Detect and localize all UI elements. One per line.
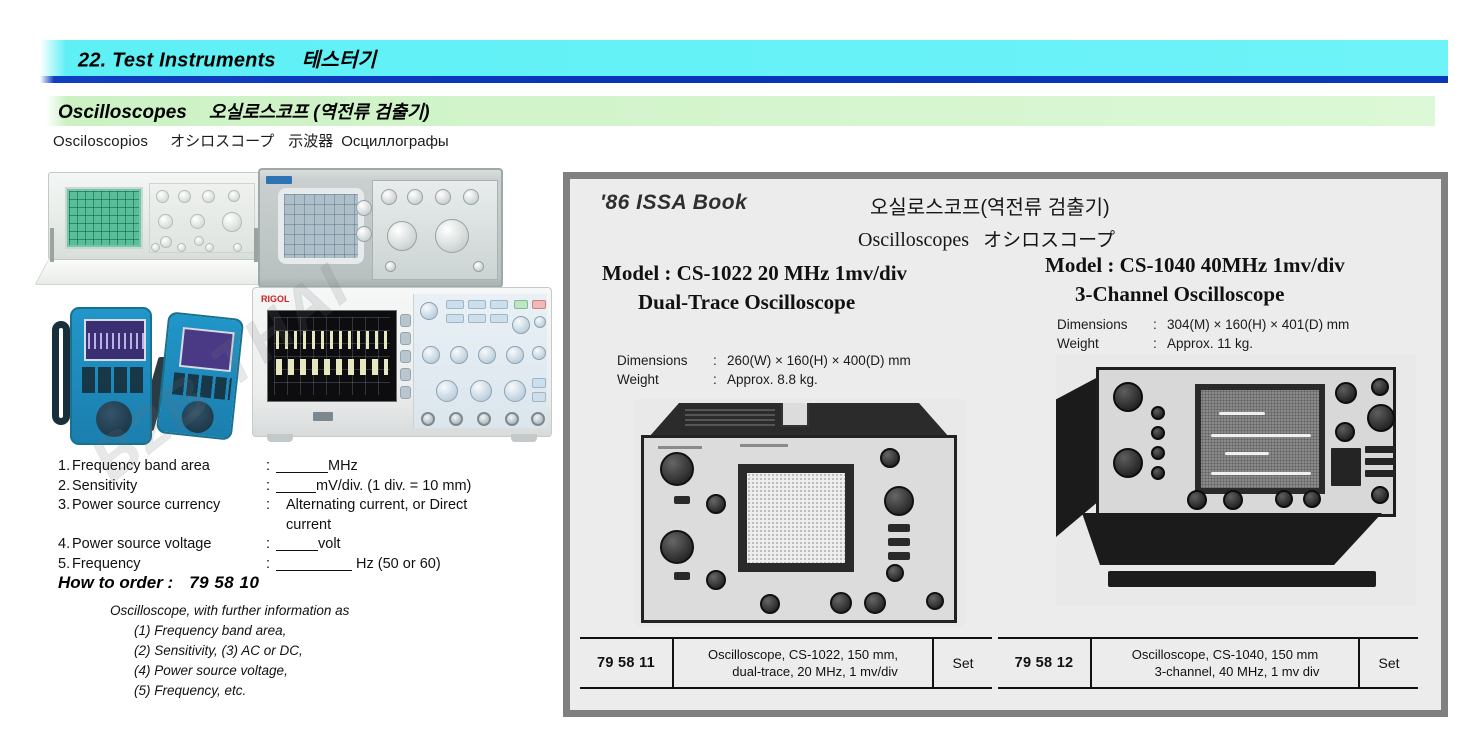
scope-case [258, 168, 503, 288]
focus-knob [356, 226, 372, 242]
power-switch [1371, 486, 1389, 504]
crt-display [278, 188, 364, 264]
product-dimensions-cs1022: Dimensions:260(W) × 160(H) × 400(D) mm W… [617, 351, 911, 389]
control-knob [1335, 422, 1355, 442]
toggle-switch [1365, 446, 1395, 453]
order-unit: Set [934, 639, 992, 687]
scope-foot [511, 434, 537, 442]
usb-port [313, 412, 333, 421]
lcd-display [179, 327, 235, 372]
control-knob [190, 214, 205, 229]
brand-badge [266, 176, 292, 184]
soft-key [400, 314, 411, 327]
crt-graticule [284, 194, 358, 258]
toggle-switch [1365, 458, 1395, 465]
order-desc-line-1: Oscilloscope, CS-1022, 150 mm, [708, 647, 898, 662]
control-knob [435, 189, 451, 205]
spec-label: Frequency band area [72, 457, 210, 477]
spec-colon: : [266, 477, 270, 497]
model-line-2: Dual-Trace Oscilloscope [638, 290, 907, 315]
weight-value: Approx. 8.8 kg. [727, 372, 818, 387]
dimensions-value: 304(M) × 160(H) × 401(D) mm [1167, 317, 1349, 332]
spec-value-continued: current [286, 516, 331, 536]
spec-label: Sensitivity [72, 477, 137, 497]
bnc-connector [205, 243, 214, 252]
soft-key [400, 368, 411, 381]
spec-value: mV/div. (1 div. = 10 mm) [276, 477, 471, 497]
spec-row: 4.Power source voltage : volt [58, 535, 538, 555]
bnc-connector [385, 261, 396, 272]
volts-div-knob [435, 219, 469, 253]
scope-base-shadow [1082, 513, 1382, 565]
spec-label: Power source currency [72, 496, 220, 516]
bnc-input-ch2 [449, 412, 463, 426]
dimensions-row: Dimensions:304(M) × 160(H) × 401(D) mm [1057, 315, 1349, 334]
scope-front-panel [641, 435, 957, 623]
spec-unit: MHz [328, 458, 358, 474]
handheld-scope-front-view [70, 307, 152, 445]
spec-row-continuation: current [58, 516, 538, 536]
lcd-display [84, 319, 146, 361]
how-to-order-description: Oscilloscope, with further information a… [110, 601, 540, 701]
spec-number: 1. [58, 457, 72, 477]
spec-colon: : [266, 555, 270, 575]
control-knob [194, 236, 204, 246]
control-knob [660, 530, 694, 564]
control-knob [1151, 446, 1165, 460]
toggle-switch [888, 538, 910, 546]
spec-colon: : [266, 457, 270, 477]
control-knob [886, 564, 904, 582]
waveform-trace [88, 333, 144, 349]
scope-leg [50, 228, 54, 262]
control-knob [1151, 406, 1165, 420]
spec-number: 3. [58, 496, 72, 516]
how-to-order-heading: How to order :79 58 10 [58, 573, 259, 593]
carry-handle [781, 401, 809, 427]
catalog-page-inner: '86 ISSA Book 오실로스코프(역전류 검출기) Oscillosco… [570, 179, 1441, 710]
switch-bank [1331, 448, 1361, 486]
section-title-ko: 오실로스코프 (역전류 검출기) [209, 102, 430, 122]
vertical-position-knob [436, 380, 458, 402]
menu-button [490, 314, 508, 323]
spec-unit: Hz (50 or 60) [356, 556, 441, 572]
weight-key: Weight [617, 370, 713, 389]
control-panel [372, 180, 498, 280]
bnc-connector [473, 261, 484, 272]
menu-button [468, 314, 486, 323]
spec-unit: mV/div. (1 div. = 10 mm) [316, 478, 471, 494]
dimensions-value: 260(W) × 160(H) × 400(D) mm [727, 353, 911, 368]
catalog-photo-cs1040 [1056, 355, 1416, 605]
bnc-input-ch4 [505, 412, 519, 426]
spec-number: 4. [58, 535, 72, 555]
control-knob [884, 486, 914, 516]
waveform-square [276, 359, 388, 375]
power-switch [926, 592, 944, 610]
weight-colon: : [713, 370, 727, 389]
section-header-bar: Oscilloscopes오실로스코프 (역전류 검출기) [46, 96, 1435, 126]
toggle-switch [888, 552, 910, 560]
bnc-connector [177, 243, 186, 252]
dimensions-key: Dimensions [617, 351, 713, 370]
menu-button [468, 300, 486, 309]
spec-label: Frequency [72, 555, 141, 575]
vertical-scale-knob [422, 346, 440, 364]
soft-key [400, 386, 411, 399]
bnc-connector [760, 594, 780, 614]
horizontal-scale-knob [506, 346, 524, 364]
product-photo-digital-storage-scope: RIGOL [252, 287, 552, 437]
intensity-knob [356, 200, 372, 216]
control-knob [1151, 466, 1165, 480]
model-line-2: 3-Channel Oscilloscope [1075, 282, 1345, 307]
scope-front-panel [1096, 367, 1396, 517]
brand-logo: RIGOL [261, 294, 411, 306]
bnc-connector [864, 592, 886, 614]
chapter-underline-rule [40, 76, 1448, 83]
control-knob [202, 190, 215, 203]
catalog-title-english: Oscilloscopesオシロスコープ [858, 225, 1115, 252]
catalog-page-panel: '86 ISSA Book 오실로스코프(역전류 검출기) Oscillosco… [563, 172, 1448, 717]
subtitle-russian: Осциллографы [341, 133, 448, 150]
how-to-order-label: How to order : [58, 573, 173, 592]
bnc-connector [1187, 490, 1207, 510]
hand-strap [52, 321, 70, 425]
section-subtitle-translations: Osciloscopiosオシロスコープ示波器Осциллографы [53, 130, 753, 151]
run-stop-button [514, 300, 528, 309]
model-line-1: Model : CS-1040 40MHz 1mv/div [1045, 253, 1345, 278]
control-panel [413, 294, 547, 428]
crt-display [65, 187, 143, 249]
scope-chassis [48, 172, 261, 260]
product-dimensions-cs1040: Dimensions:304(M) × 160(H) × 401(D) mm W… [1057, 315, 1349, 353]
dimensions-colon: : [713, 351, 727, 370]
toggle-switch [674, 496, 690, 504]
order-desc-line: Oscilloscope, with further information a… [110, 601, 540, 621]
left-product-column: RIGOL [40, 165, 550, 725]
chapter-header-bar: 22. Test Instruments테스터기 [40, 40, 1448, 76]
fill-in-blank [276, 480, 316, 493]
bnc-connector [233, 243, 242, 252]
control-knob [532, 346, 546, 360]
order-desc-line-2: 3-channel, 40 MHz, 1 mv div [1131, 663, 1320, 680]
section-title-en: Oscilloscopes [58, 102, 187, 123]
spec-colon: : [266, 496, 270, 516]
scope-case: RIGOL [252, 287, 552, 437]
catalog-photo-cs1022 [635, 399, 965, 627]
product-photo-handheld-scopes [40, 295, 255, 455]
control-knob [160, 236, 172, 248]
catalog-title-en-text: Oscilloscopes [858, 229, 969, 251]
control-knob [381, 189, 397, 205]
order-desc-line-2: dual-trace, 20 MHz, 1 mv/div [708, 663, 898, 680]
crt-graticule [69, 191, 139, 245]
specification-list: 1.Frequency band area : MHz 2.Sensitivit… [58, 457, 538, 574]
catalog-title-korean: 오실로스코프(역전류 검출기) [870, 191, 1110, 220]
bnc-connector [1303, 490, 1321, 508]
utility-button [532, 392, 546, 402]
bnc-connector [151, 243, 160, 252]
spec-unit: volt [318, 536, 341, 552]
weight-row: Weight:Approx. 11 kg. [1057, 334, 1349, 353]
ventilation-grille [685, 409, 775, 429]
spec-colon: : [266, 535, 270, 555]
chapter-title-ko: 테스터기 [302, 50, 376, 72]
toggle-switch [888, 524, 910, 532]
control-knob [178, 190, 191, 203]
display-graticule [274, 317, 390, 395]
probe-accessory-bar [1108, 571, 1376, 587]
timebase-knob [1367, 404, 1395, 432]
spec-row: 2.Sensitivity : mV/div. (1 div. = 10 mm) [58, 477, 538, 497]
order-desc-line: (1) Frequency band area, [110, 621, 540, 641]
product-photo-benchtop-analog-scope [48, 170, 263, 295]
control-knob [1335, 382, 1357, 404]
order-desc-line: (5) Frequency, etc. [110, 681, 540, 701]
control-knob [463, 189, 479, 205]
chapter-title-en: 22. Test Instruments [78, 50, 276, 72]
single-button [532, 300, 546, 309]
spec-row: 1.Frequency band area : MHz [58, 457, 538, 477]
order-code: 79 58 11 [580, 639, 672, 687]
how-to-order-code: 79 58 10 [189, 573, 259, 592]
issa-book-label: '86 ISSA Book [600, 191, 747, 215]
bnc-input-ch3 [477, 412, 491, 426]
weight-colon: : [1153, 334, 1167, 353]
control-knob [706, 570, 726, 590]
subtitle-japanese: オシロスコープ [170, 133, 274, 150]
chapter-title: 22. Test Instruments테스터기 [78, 44, 376, 73]
waveform-trace [1211, 434, 1311, 437]
spec-label: Power source voltage [72, 535, 211, 555]
subtitle-chinese: 示波器 [288, 133, 333, 150]
multipurpose-knob [420, 302, 438, 320]
horizontal-position-knob [504, 380, 526, 402]
scope-top-hood [649, 403, 949, 437]
crt-display [1195, 384, 1325, 494]
weight-row: Weight:Approx. 8.8 kg. [617, 370, 911, 389]
scope-stand [35, 259, 275, 285]
control-knob [222, 212, 242, 232]
order-description: Oscilloscope, CS-1040, 150 mm 3-channel,… [1090, 639, 1360, 687]
scope-foot [267, 434, 293, 442]
waveform-sine [276, 331, 388, 349]
order-unit: Set [1360, 639, 1418, 687]
menu-button [446, 300, 464, 309]
spec-value: Hz (50 or 60) [276, 555, 441, 575]
dimensions-row: Dimensions:260(W) × 160(H) × 400(D) mm [617, 351, 911, 370]
rotary-dial [180, 399, 215, 434]
control-knob [660, 452, 694, 486]
control-knob [1371, 378, 1389, 396]
control-knob [1151, 426, 1165, 440]
spec-row: 3.Power source currency : Alternating cu… [58, 496, 538, 516]
bnc-input-ch1 [421, 412, 435, 426]
bnc-input-ext [531, 412, 545, 426]
waveform-trace [1211, 472, 1311, 475]
panel-marking [658, 446, 702, 449]
vertical-position-knob [470, 380, 492, 402]
catalog-title-japanese: オシロスコープ [983, 229, 1115, 251]
product-photo-analog-scope-2 [258, 168, 503, 288]
subtitle-spanish: Osciloscopios [53, 133, 148, 150]
spec-value: Alternating current, or Direct [286, 496, 467, 516]
bnc-connector [1223, 490, 1243, 510]
control-knob [1113, 448, 1143, 478]
position-knob [534, 316, 546, 328]
spec-number: 5. [58, 555, 72, 575]
rotary-dial [96, 401, 132, 437]
order-description: Oscilloscope, CS-1022, 150 mm, dual-trac… [672, 639, 934, 687]
timebase-knob [387, 221, 417, 251]
weight-value: Approx. 11 kg. [1167, 336, 1253, 351]
spec-row: 5.Frequency : Hz (50 or 60) [58, 555, 538, 575]
panel-marking [740, 444, 788, 447]
spec-value: volt [276, 535, 341, 555]
control-knob [156, 190, 169, 203]
product-model-cs1040: Model : CS-1040 40MHz 1mv/div 3-Channel … [1045, 253, 1345, 307]
bnc-connector [830, 592, 852, 614]
keypad [172, 372, 232, 400]
order-code: 79 58 12 [998, 639, 1090, 687]
model-line-1: Model : CS-1022 20 MHz 1mv/div [602, 261, 907, 286]
order-desc-line: (4) Power source voltage, [110, 661, 540, 681]
handheld-scope-side-view [156, 311, 244, 440]
spec-number: 2. [58, 477, 72, 497]
vertical-scale-knob [450, 346, 468, 364]
waveform-trace [1219, 412, 1265, 415]
order-table-row-2: 79 58 12 Oscilloscope, CS-1040, 150 mm 3… [998, 637, 1418, 689]
control-knob [1113, 382, 1143, 412]
control-knob [706, 494, 726, 514]
dimensions-colon: : [1153, 315, 1167, 334]
fill-in-blank [276, 558, 352, 571]
control-knob [880, 448, 900, 468]
vertical-scale-knob [478, 346, 496, 364]
bnc-connector [1275, 490, 1293, 508]
fill-in-blank [276, 460, 328, 473]
fill-in-blank [276, 538, 318, 551]
control-knob [228, 190, 240, 202]
order-table-row-1: 79 58 11 Oscilloscope, CS-1022, 150 mm, … [580, 637, 992, 689]
product-model-cs1022: Model : CS-1022 20 MHz 1mv/div Dual-Trac… [602, 261, 907, 315]
soft-key [400, 350, 411, 363]
lcd-display [267, 310, 397, 402]
utility-button [532, 378, 546, 388]
order-desc-line-1: Oscilloscope, CS-1040, 150 mm [1132, 647, 1318, 662]
dimensions-key: Dimensions [1057, 315, 1153, 334]
menu-button [446, 314, 464, 323]
control-knob [158, 214, 173, 229]
menu-button [490, 300, 508, 309]
order-desc-line: (2) Sensitivity, (3) AC or DC, [110, 641, 540, 661]
toggle-switch [1365, 470, 1395, 477]
control-knob [407, 189, 423, 205]
toggle-switch [674, 572, 690, 580]
soft-key [400, 332, 411, 345]
crt-display [738, 464, 854, 572]
keypad [82, 367, 146, 393]
trigger-level-knob [512, 316, 530, 334]
section-title: Oscilloscopes오실로스코프 (역전류 검출기) [58, 98, 430, 124]
waveform-trace [1225, 452, 1269, 455]
weight-key: Weight [1057, 334, 1153, 353]
spec-value: MHz [276, 457, 358, 477]
